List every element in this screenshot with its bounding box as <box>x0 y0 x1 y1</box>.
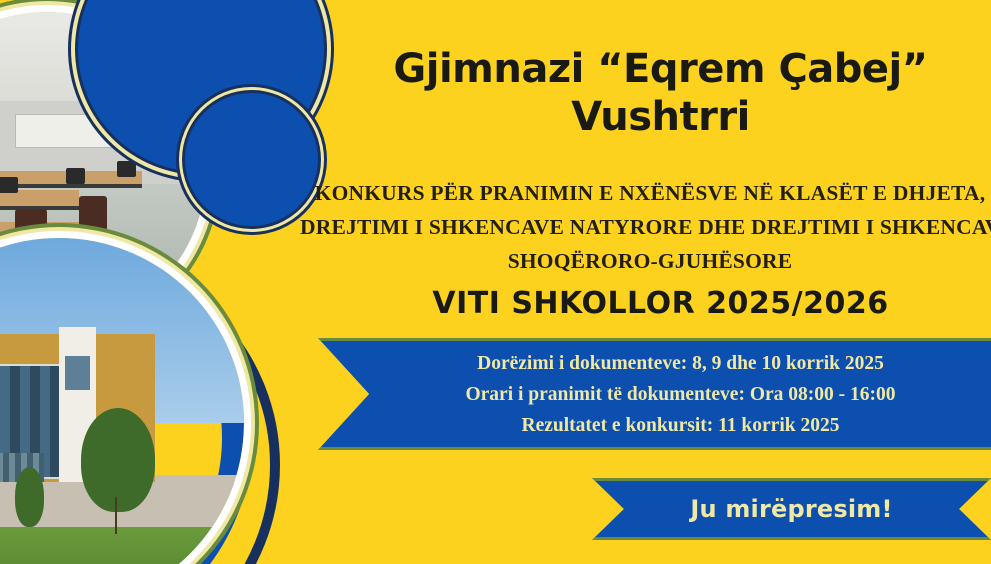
subtitle-line-2: DREJTIMI I SHKENCAVE NATYRORE DHE DREJTI… <box>300 210 991 244</box>
tower-window-shape <box>65 356 91 389</box>
tree-shape <box>81 408 155 512</box>
whiteboard-shape <box>15 114 125 148</box>
subtitle-line-1: KONKURS PËR PRANIMIN E NXËNËSVE NË KLASË… <box>300 176 991 210</box>
page-title: Gjimnazi “Eqrem Çabej” Vushtrri <box>330 45 991 141</box>
dates-line-2: Orari i pranimit të dokumenteve: Ora 08:… <box>465 379 895 410</box>
subtitle-block: KONKURS PËR PRANIMIN E NXËNËSVE NË KLASË… <box>300 176 991 278</box>
dates-line-1: Dorëzimi i dokumenteve: 8, 9 dhe 10 korr… <box>477 348 884 379</box>
tree-shape <box>15 467 45 526</box>
dates-line-3: Rezultatet e konkursit: 11 korrik 2025 <box>522 410 840 441</box>
poster-canvas: Gjimnazi “Eqrem Çabej” Vushtrri KONKURS … <box>0 0 991 564</box>
monitor-shape <box>0 177 18 193</box>
dates-banner: Dorëzimi i dokumenteve: 8, 9 dhe 10 korr… <box>318 338 991 450</box>
tree-trunk-shape <box>115 497 117 534</box>
title-line-1: Gjimnazi “Eqrem Çabej” <box>330 45 991 93</box>
desk-shape <box>0 190 79 210</box>
title-line-2: Vushtrri <box>330 93 991 141</box>
school-building-photo <box>0 238 244 564</box>
subtitle-line-3: SHOQËRORO-GJUHËSORE <box>300 244 991 278</box>
school-building-illustration <box>0 238 244 564</box>
monitor-shape <box>117 161 136 177</box>
welcome-ribbon-label: Ju mirëpresim! <box>690 495 892 523</box>
chair-shape <box>79 196 108 231</box>
school-year-label: VITI SHKOLLOR 2025/2026 <box>330 286 991 321</box>
welcome-ribbon: Ju mirëpresim! <box>592 478 991 540</box>
monitor-shape <box>66 168 85 184</box>
ceiling-shape <box>0 12 206 107</box>
